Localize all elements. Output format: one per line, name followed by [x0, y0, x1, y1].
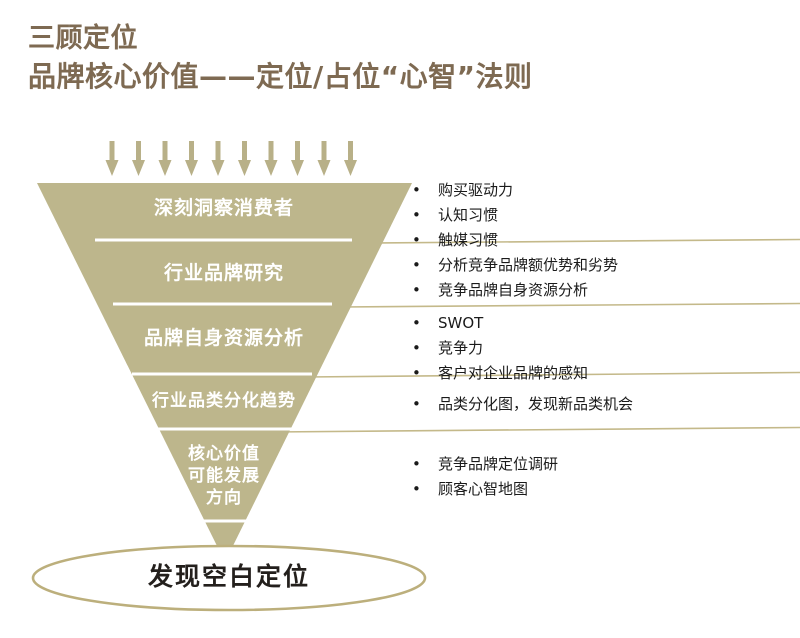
inflow-arrow: [291, 141, 304, 176]
bullet-item-label: 购买驱动力: [438, 178, 792, 203]
inflow-arrows-group: [106, 141, 358, 176]
bullet-dot-icon: •: [412, 361, 438, 386]
outcome-label: 发现空白定位: [33, 557, 425, 593]
inflow-arrow: [318, 141, 331, 176]
inflow-arrow: [344, 141, 357, 176]
bullet-item: •品类分化图，发现新品类机会: [412, 392, 792, 417]
bullet-item-label: 触媒习惯: [438, 228, 792, 253]
bullet-item-label: 品类分化图，发现新品类机会: [438, 392, 792, 417]
inflow-arrow: [159, 141, 172, 176]
slide-canvas: 三顾定位 品牌核心价值——定位/占位“心智”法则 深刻洞察消费者 行业品牌研究 …: [0, 0, 800, 638]
bullet-item: •竞争品牌自身资源分析: [412, 278, 792, 303]
bullet-item: •认知习惯: [412, 203, 792, 228]
bullet-item-label: 客户对企业品牌的感知: [438, 361, 792, 386]
bullet-group-3: •SWOT•竞争力•客户对企业品牌的感知: [412, 311, 792, 386]
bullet-item-label: 竞争品牌定位调研: [438, 452, 792, 477]
bullet-item: •顾客心智地图: [412, 477, 792, 502]
bullet-dot-icon: •: [412, 452, 438, 477]
inflow-arrow: [212, 141, 225, 176]
bullet-item: •SWOT: [412, 311, 792, 336]
funnel-stage-label-3: 品牌自身资源分析: [105, 326, 343, 350]
bullet-dot-icon: •: [412, 253, 438, 278]
bullet-dot-icon: •: [412, 278, 438, 303]
funnel-stage-label-4: 行业品类分化趋势: [118, 391, 330, 413]
bullet-dot-icon: •: [412, 203, 438, 228]
bullet-item: •分析竞争品牌额优势和劣势: [412, 253, 792, 278]
bullet-item: •购买驱动力: [412, 178, 792, 203]
connector-rule-2: [340, 304, 800, 308]
inflow-arrow: [265, 141, 278, 176]
bullet-item-label: 竞争品牌自身资源分析: [438, 278, 792, 303]
bullet-item: •竞争品牌定位调研: [412, 452, 792, 477]
bullet-dot-icon: •: [412, 477, 438, 502]
bullet-item-label: 分析竞争品牌额优势和劣势: [438, 253, 792, 278]
bullet-item-label: 竞争力: [438, 336, 792, 361]
bullet-item: •竞争力: [412, 336, 792, 361]
bullet-group-2: •分析竞争品牌额优势和劣势•竞争品牌自身资源分析: [412, 253, 792, 303]
bullet-item: •客户对企业品牌的感知: [412, 361, 792, 386]
bullet-group-1: •购买驱动力•认知习惯•触媒习惯: [412, 178, 792, 253]
funnel-stage-label-1: 深刻洞察消费者: [95, 196, 353, 220]
inflow-arrow: [106, 141, 119, 176]
bullet-group-4: •品类分化图，发现新品类机会: [412, 392, 792, 417]
inflow-arrow: [132, 141, 145, 176]
bullet-item-label: SWOT: [438, 311, 792, 336]
funnel-stage-label-5: 核心价值 可能发展 方向: [150, 444, 298, 509]
bullet-item: •触媒习惯: [412, 228, 792, 253]
bullet-dot-icon: •: [412, 228, 438, 253]
bullet-dot-icon: •: [412, 392, 438, 417]
bullet-dot-icon: •: [412, 311, 438, 336]
bullet-dot-icon: •: [412, 336, 438, 361]
bullet-item-label: 认知习惯: [438, 203, 792, 228]
inflow-arrow: [185, 141, 198, 176]
inflow-arrow: [238, 141, 251, 176]
funnel-stage-label-2: 行业品牌研究: [100, 261, 348, 285]
bullet-dot-icon: •: [412, 178, 438, 203]
bullet-group-5: •竞争品牌定位调研•顾客心智地图: [412, 452, 792, 502]
connector-rule-4: [272, 428, 800, 433]
bullet-item-label: 顾客心智地图: [438, 477, 792, 502]
